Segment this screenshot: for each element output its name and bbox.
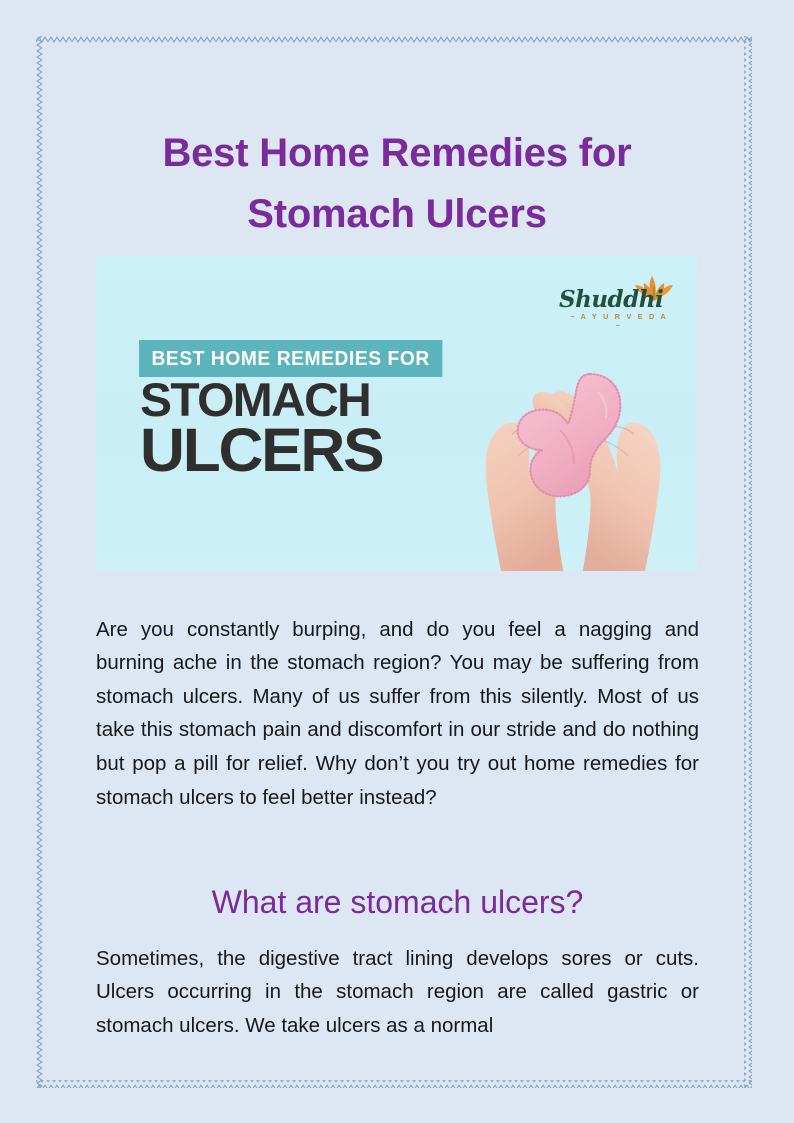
- banner-kicker-label: BEST HOME REMEDIES FOR: [139, 340, 442, 377]
- banner-headline-line-2: ULCERS: [140, 422, 382, 479]
- hands-holding-stomach-illustration: [448, 326, 697, 571]
- page-title-line-1: Best Home Remedies for: [97, 123, 697, 184]
- banner-headline: STOMACH ULCERS: [140, 378, 382, 480]
- article-banner-image: Shuddhi ~ A Y U R V E D A ~ BEST HOME RE…: [96, 256, 697, 571]
- page-title: Best Home Remedies for Stomach Ulcers: [97, 123, 697, 245]
- shuddhi-ayurveda-logo: Shuddhi ~ A Y U R V E D A ~: [559, 274, 679, 326]
- body-paragraph-1: Are you constantly burping, and do you f…: [96, 613, 699, 815]
- page-title-line-2: Stomach Ulcers: [97, 184, 697, 245]
- logo-brand-text: Shuddhi: [559, 286, 667, 313]
- document-page: Best Home Remedies for Stomach Ulcers: [0, 0, 794, 1123]
- section-heading: What are stomach ulcers?: [96, 883, 699, 921]
- body-paragraph-2: Sometimes, the digestive tract lining de…: [96, 942, 699, 1043]
